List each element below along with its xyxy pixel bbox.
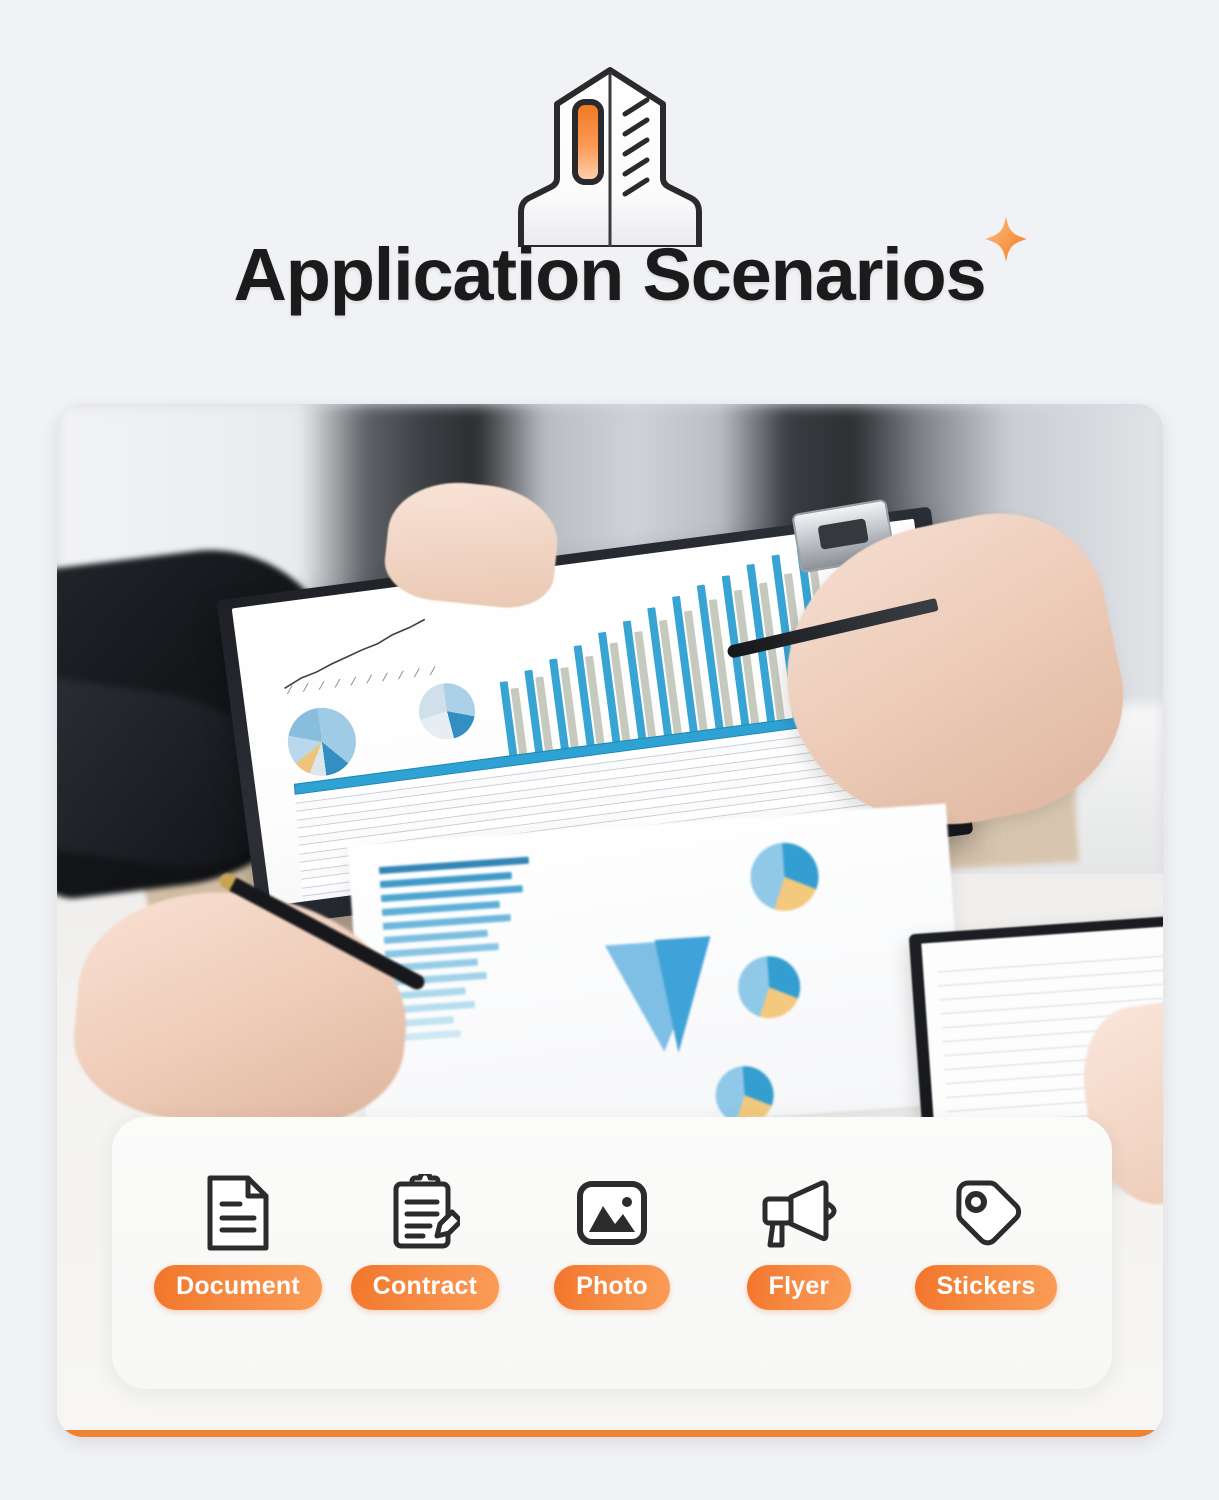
page-title-row: Application Scenarios: [0, 238, 1219, 312]
image-icon: [575, 1173, 649, 1253]
badge-label-photo[interactable]: Photo: [554, 1265, 670, 1310]
badge-document[interactable]: Document: [150, 1117, 326, 1310]
badge-contract[interactable]: Contract: [337, 1117, 513, 1310]
price-tag-icon: [949, 1173, 1023, 1253]
photo-second-report-sheet: [347, 803, 966, 1144]
badge-label-contract[interactable]: Contract: [351, 1265, 499, 1310]
scenario-badge-panel: Document Contract: [112, 1117, 1112, 1389]
logo-accent-window: [575, 102, 601, 182]
clipboard-pen-icon: [390, 1173, 460, 1253]
badge-photo[interactable]: Photo: [524, 1117, 700, 1310]
photo-line-chart: [273, 608, 469, 694]
megaphone-icon: [760, 1173, 838, 1253]
document-icon: [204, 1173, 272, 1253]
photo-bottom-accent-bar: [57, 1430, 1163, 1437]
badge-label-stickers[interactable]: Stickers: [915, 1265, 1058, 1310]
photo-pie-chart-1: [284, 704, 360, 780]
photo-pie-chart-2: [416, 680, 479, 743]
page-title: Application Scenarios: [234, 233, 986, 316]
badge-stickers[interactable]: Stickers: [898, 1117, 1074, 1310]
sparkle-icon: [981, 214, 1031, 264]
brand-logo: [495, 62, 725, 247]
badge-label-document[interactable]: Document: [154, 1265, 322, 1310]
badge-label-flyer[interactable]: Flyer: [747, 1265, 852, 1310]
badge-flyer[interactable]: Flyer: [711, 1117, 887, 1310]
page-header: Application Scenarios: [0, 0, 1219, 392]
